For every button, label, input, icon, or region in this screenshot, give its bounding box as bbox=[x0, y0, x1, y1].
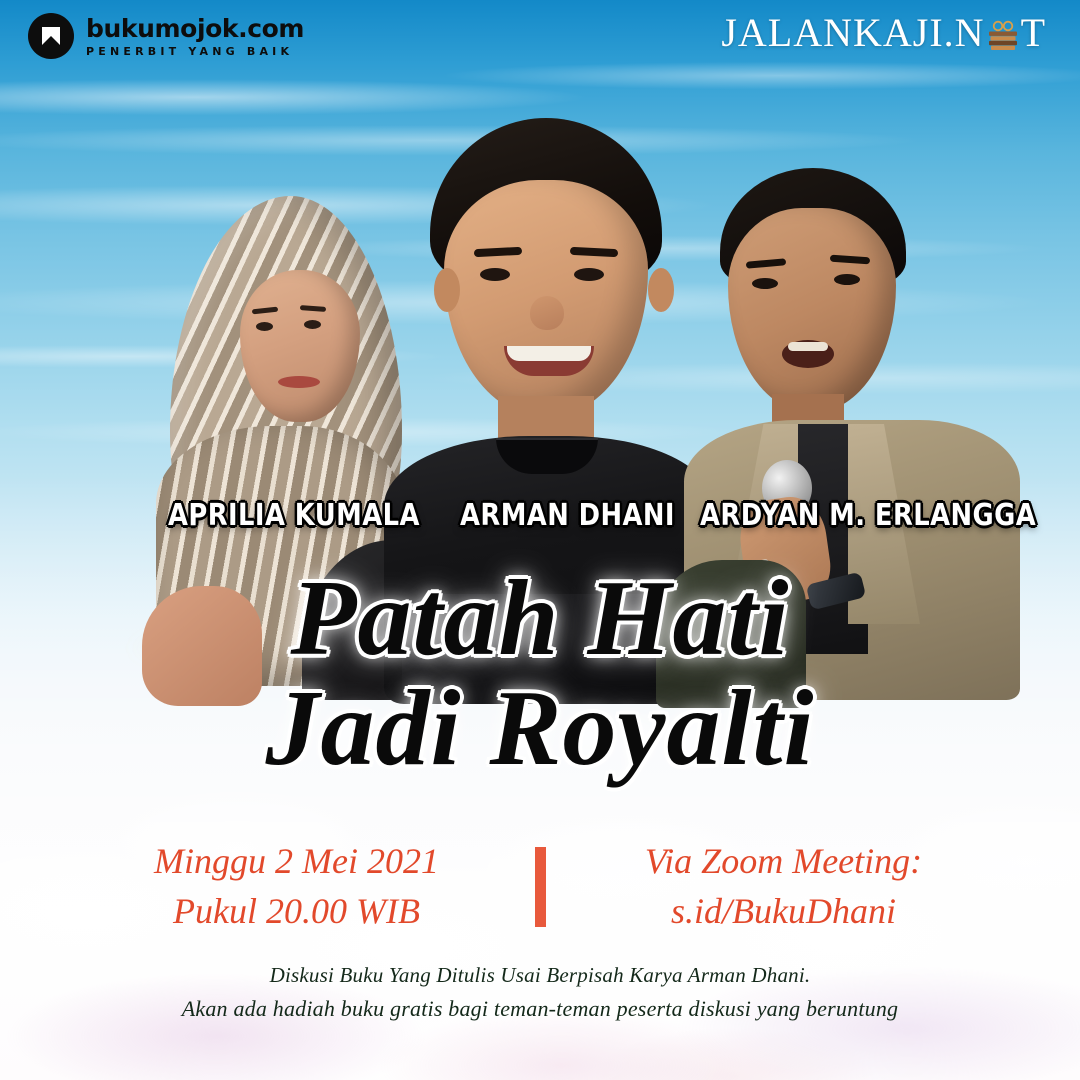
registration-link[interactable]: s.id/BukuDhani bbox=[584, 887, 984, 937]
face bbox=[728, 208, 896, 412]
footnote-line-2: Akan ada hadiah buku gratis bagi teman-t… bbox=[0, 992, 1080, 1025]
title-line-1: Patah Hati bbox=[0, 566, 1080, 672]
event-time: Pukul 20.00 WIB bbox=[97, 887, 497, 937]
bukumojok-tagline: PENERBIT YANG BAIK bbox=[86, 46, 304, 57]
book-stack-with-glasses-icon bbox=[986, 16, 1020, 50]
jalankaji-logo[interactable]: JALANKAJI.N T bbox=[721, 9, 1046, 56]
eye-left bbox=[480, 268, 510, 281]
schedule-block: Minggu 2 Mei 2021 Pukul 20.00 WIB bbox=[97, 837, 497, 936]
event-date: Minggu 2 Mei 2021 bbox=[97, 837, 497, 887]
eye-right bbox=[834, 274, 860, 285]
open-mouth bbox=[782, 340, 834, 368]
bukumojok-bookmark-mark-icon bbox=[28, 13, 74, 59]
header-bar: bukumojok.com PENERBIT YANG BAIK JALANKA… bbox=[0, 0, 1080, 72]
lips bbox=[278, 376, 320, 388]
eye-right bbox=[574, 268, 604, 281]
bukumojok-brand-text: bukumojok.com bbox=[86, 16, 304, 41]
platform-label: Via Zoom Meeting: bbox=[584, 837, 984, 887]
ear-left bbox=[434, 268, 460, 312]
eye-left bbox=[752, 278, 778, 289]
event-details: Minggu 2 Mei 2021 Pukul 20.00 WIB Via Zo… bbox=[0, 832, 1080, 942]
poster-title: Patah Hati Jadi Royalti bbox=[0, 566, 1080, 782]
vertical-divider bbox=[535, 847, 546, 927]
jalankaji-text-before: JALANKAJI.N bbox=[721, 9, 984, 56]
eye-left bbox=[256, 322, 273, 331]
teeth bbox=[507, 346, 591, 361]
title-line-2: Jadi Royalti bbox=[0, 676, 1080, 782]
nose bbox=[530, 296, 564, 330]
ear-right bbox=[648, 268, 674, 312]
jalankaji-text-after: T bbox=[1021, 9, 1046, 56]
speaker-name-aprilia-kumala: APRILIA KUMALA bbox=[168, 498, 420, 533]
event-poster: bukumojok.com PENERBIT YANG BAIK JALANKA… bbox=[0, 0, 1080, 1080]
eye-right bbox=[304, 320, 321, 329]
bukumojok-logo[interactable]: bukumojok.com PENERBIT YANG BAIK bbox=[28, 13, 304, 59]
platform-block: Via Zoom Meeting: s.id/BukuDhani bbox=[584, 837, 984, 936]
footnote: Diskusi Buku Yang Ditulis Usai Berpisah … bbox=[0, 960, 1080, 1025]
speaker-name-arman-dhani: ARMAN DHANI bbox=[460, 498, 675, 533]
speaker-name-ardyan-m-erlangga: ARDYAN M. ERLANGGA bbox=[700, 498, 1036, 533]
footnote-line-1: Diskusi Buku Yang Ditulis Usai Berpisah … bbox=[0, 960, 1080, 992]
teeth bbox=[788, 342, 828, 351]
bukumojok-wordmark: bukumojok.com PENERBIT YANG BAIK bbox=[86, 16, 304, 57]
